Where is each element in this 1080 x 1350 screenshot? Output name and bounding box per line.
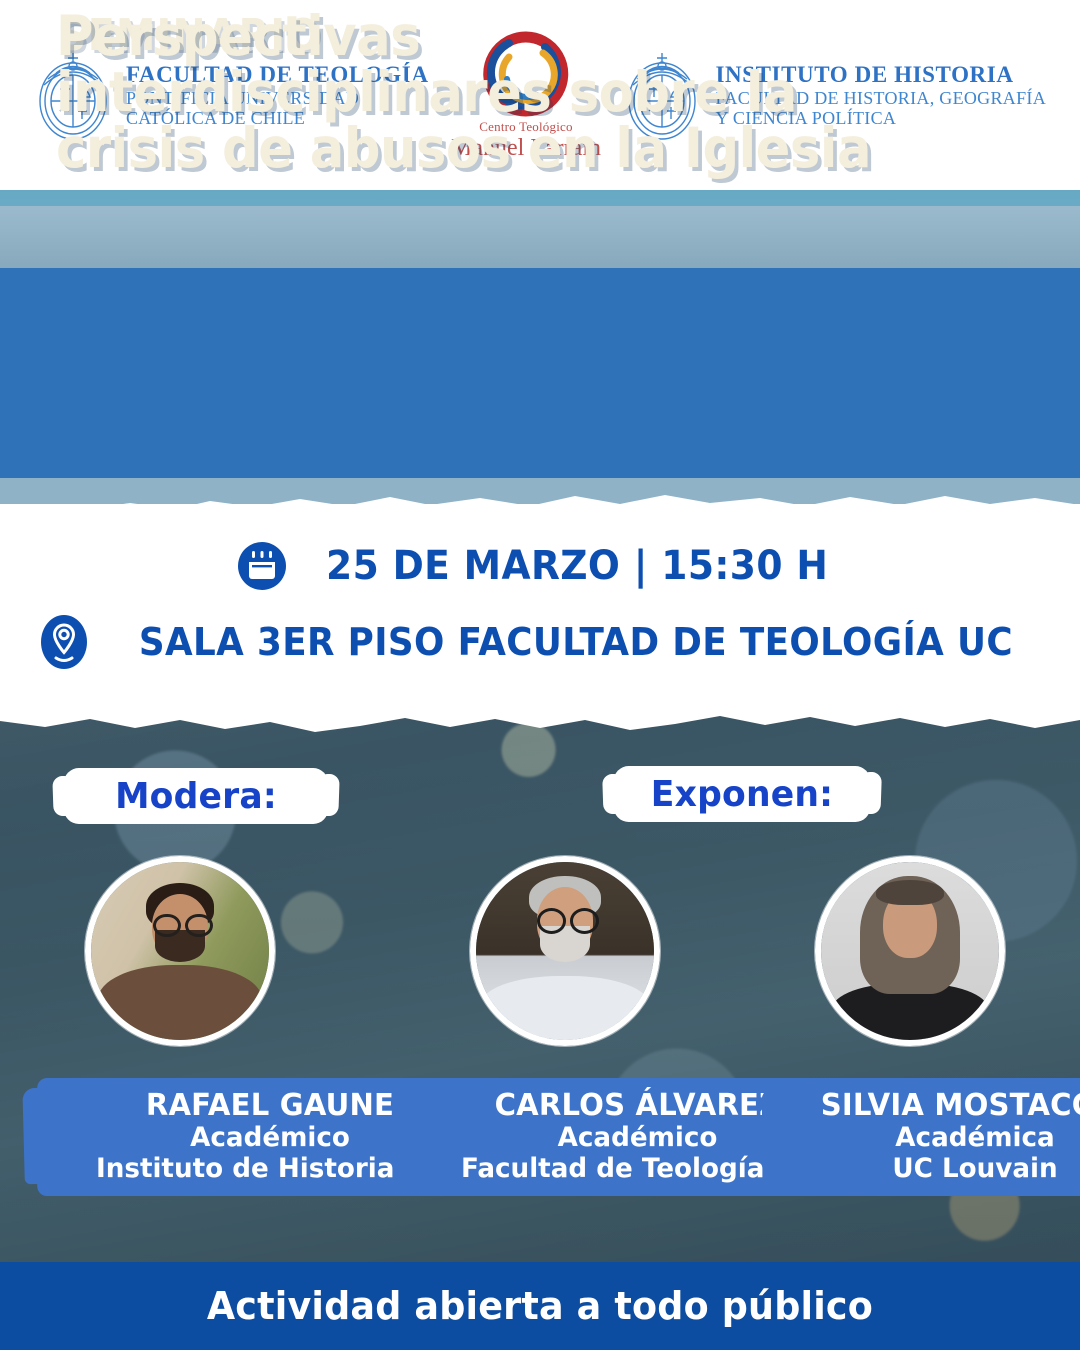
- person-name: CARLOS ÁLVAREZ: [495, 1089, 781, 1123]
- kicker-band: [0, 206, 1080, 268]
- person-affiliation: Instituto de Historia UC: [96, 1154, 444, 1185]
- portrait-carlos-alvarez: [476, 862, 654, 1040]
- person-namebar: SILVIA MOSTACCIO Académica UC Louvain: [776, 1078, 1080, 1196]
- person-role: Académico: [558, 1123, 718, 1154]
- moderator-label: Modera:: [115, 776, 277, 817]
- title-line-2: interdisciplinares sobre la: [56, 64, 990, 120]
- calendar-icon: [236, 540, 288, 592]
- person-card: [85, 856, 285, 1046]
- portrait-rafael-gaune: [91, 862, 269, 1040]
- event-date: 25 DE MARZO | 15:30 H: [326, 543, 828, 589]
- avatar: [85, 856, 275, 1046]
- location-pin-icon: [39, 614, 89, 670]
- footer-note: Actividad abierta a todo público: [207, 1284, 873, 1328]
- person-affiliation: Facultad de Teología UC: [461, 1154, 814, 1185]
- event-info: 25 DE MARZO | 15:30 H SALA 3ER PISO FACU…: [0, 520, 1080, 710]
- event-place: SALA 3ER PISO FACULTAD DE TEOLOGÍA UC: [139, 620, 1013, 664]
- person-role: Académica: [895, 1123, 1054, 1154]
- person-affiliation: UC Louvain: [892, 1154, 1057, 1185]
- person-name: SILVIA MOSTACCIO: [821, 1089, 1080, 1123]
- page-title: Perspectivas interdisciplinares sobre la…: [56, 8, 990, 176]
- title-band: [0, 268, 1080, 478]
- avatar: [815, 856, 1005, 1046]
- avatar: [470, 856, 660, 1046]
- speakers-badge: Exponen:: [613, 766, 870, 822]
- title-line-1: Perspectivas: [56, 8, 990, 64]
- moderator-badge: Modera:: [64, 768, 329, 824]
- kicker-band-shade: [0, 206, 1080, 268]
- title-line-3: crisis de abusos en la Iglesia: [56, 120, 990, 176]
- speakers-label: Exponen:: [651, 774, 833, 815]
- torn-edge-white-bottom: [0, 706, 1080, 740]
- person-name: RAFAEL GAUNE: [146, 1089, 394, 1123]
- poster-root: FACULTAD DE TEOLOGÍA PONTIFICIA UNIVERSI…: [0, 0, 1080, 1350]
- person-card: [815, 856, 1015, 1046]
- footer-bar: Actividad abierta a todo público: [0, 1262, 1080, 1350]
- event-date-row: 25 DE MARZO | 15:30 H: [0, 540, 1080, 592]
- torn-edge-white-top: [0, 486, 1080, 522]
- event-place-row: SALA 3ER PISO FACULTAD DE TEOLOGÍA UC: [0, 614, 1080, 670]
- person-role: Académico: [190, 1123, 350, 1154]
- portrait-silvia-mostaccio: [821, 862, 999, 1040]
- person-card: [470, 856, 670, 1046]
- speakers-section: Modera: Exponen:: [0, 706, 1080, 1262]
